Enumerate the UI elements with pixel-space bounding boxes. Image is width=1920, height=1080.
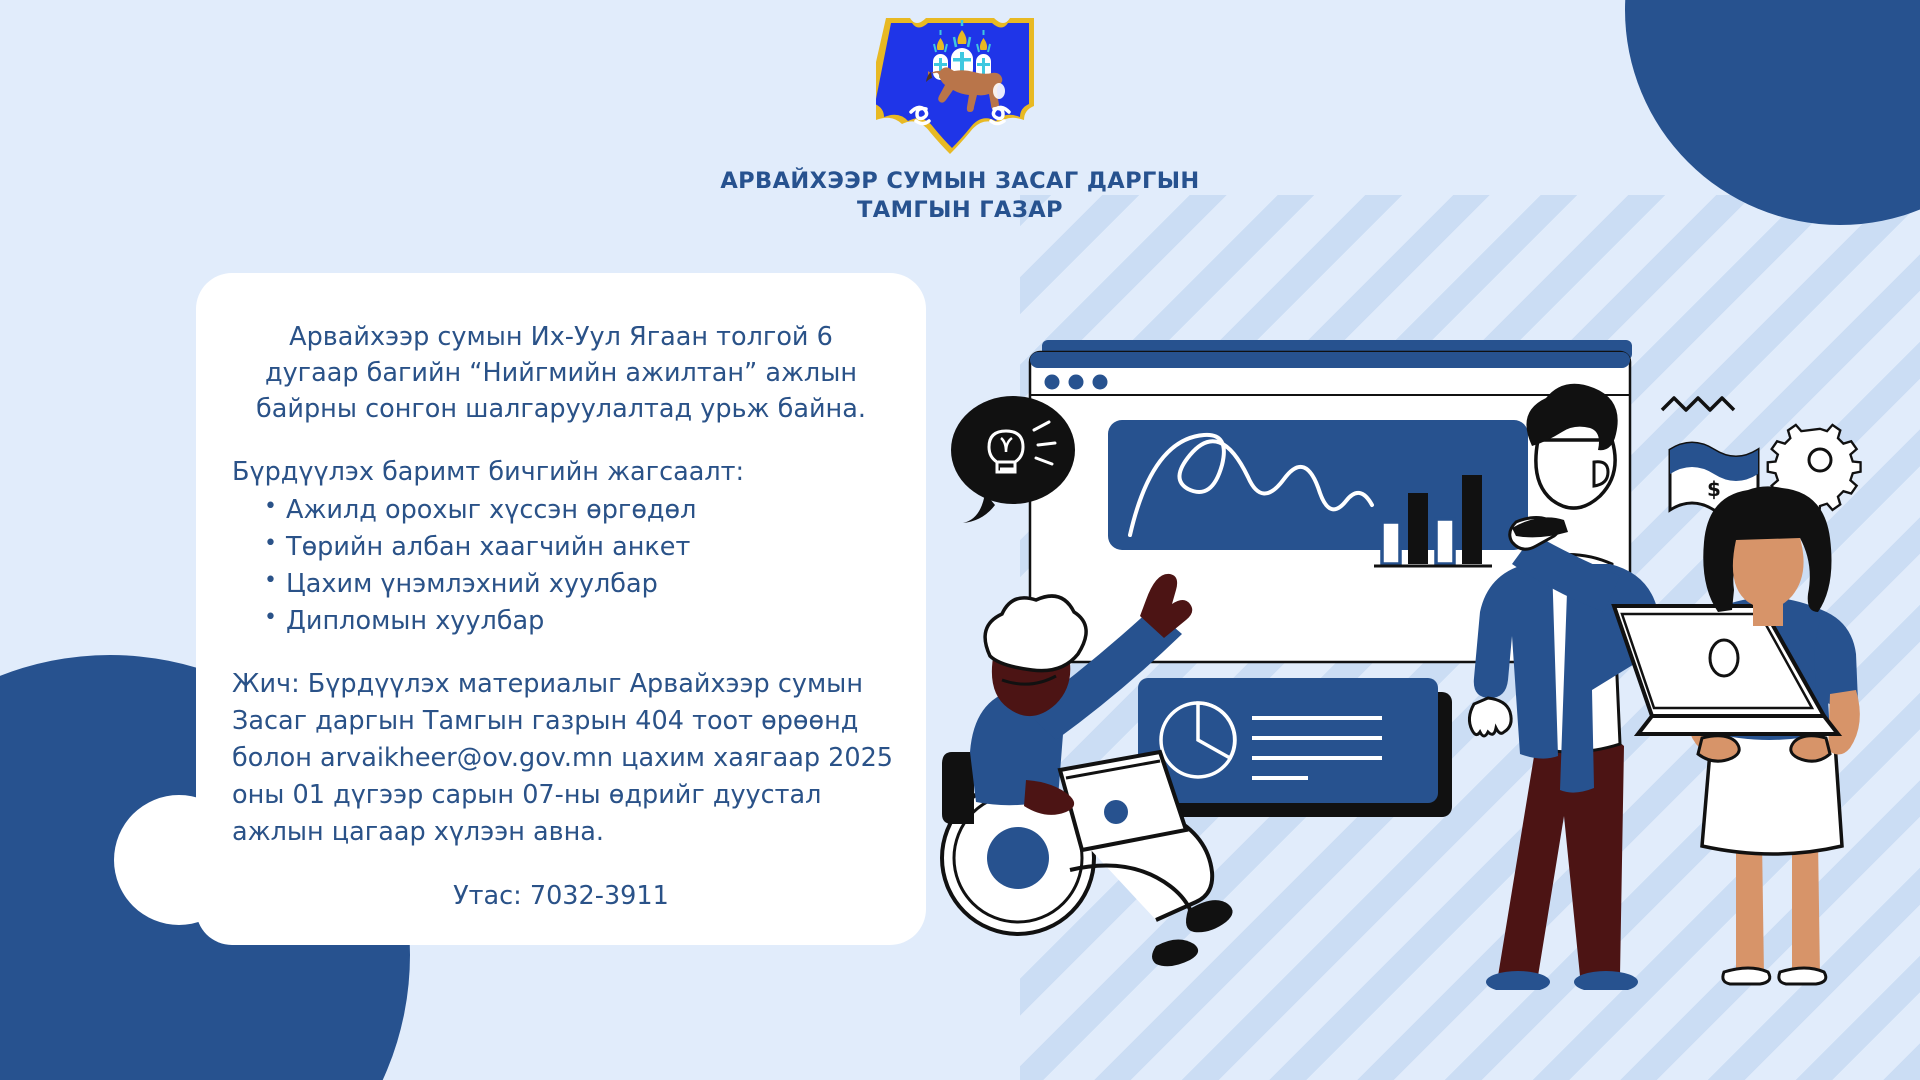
- window-dot-1: [1045, 375, 1060, 390]
- documents-list: Ажилд орохыг хүссэн өргөдөл Төрийн албан…: [224, 492, 898, 640]
- header: АРВАЙХЭЭР СУМЫН ЗАСАГ ДАРГЫН ТАМГЫН ГАЗА…: [0, 0, 1920, 226]
- window-dot-2: [1069, 375, 1084, 390]
- contact-phone: Утас: 7032-3911: [224, 881, 898, 911]
- list-item: Дипломын хуулбар: [262, 603, 898, 640]
- spacer: [224, 428, 898, 454]
- window-dot-3: [1093, 375, 1108, 390]
- list-item: Цахим үнэмлэхний хуулбар: [262, 566, 898, 603]
- svg-text:$: $: [1707, 477, 1721, 501]
- spacer: [224, 640, 898, 666]
- org-title-line1: АРВАЙХЭЭР СУМЫН ЗАСАГ ДАРГЫН: [720, 167, 1199, 196]
- pie-chart-card: [1138, 678, 1452, 817]
- documents-list-heading: Бүрдүүлэх баримт бичгийн жагсаалт:: [224, 454, 898, 490]
- page-title: АРВАЙХЭЭР СУМЫН ЗАСАГ ДАРГЫН ТАМГЫН ГАЗА…: [720, 167, 1199, 226]
- announcement-intro: Арвайхээр сумын Их-Уул Ягаан толгой 6 ду…: [224, 319, 898, 428]
- team-presentation-illustration: $: [930, 300, 1920, 990]
- list-item: Төрийн албан хаагчийн анкет: [262, 529, 898, 566]
- woman-with-laptop: [1614, 486, 1860, 984]
- arvaikheer-coat-of-arms-icon: [876, 6, 1044, 156]
- announcement-card: Арвайхээр сумын Их-Уул Ягаан толгой 6 ду…: [196, 273, 926, 945]
- org-title-line2: ТАМГЫН ГАЗАР: [720, 196, 1199, 225]
- zigzag-icon: [1662, 398, 1734, 410]
- announcement-note: Жич: Бүрдүүлэх материалыг Арвайхээр сумы…: [224, 666, 898, 851]
- list-item: Ажилд орохыг хүссэн өргөдөл: [262, 492, 898, 529]
